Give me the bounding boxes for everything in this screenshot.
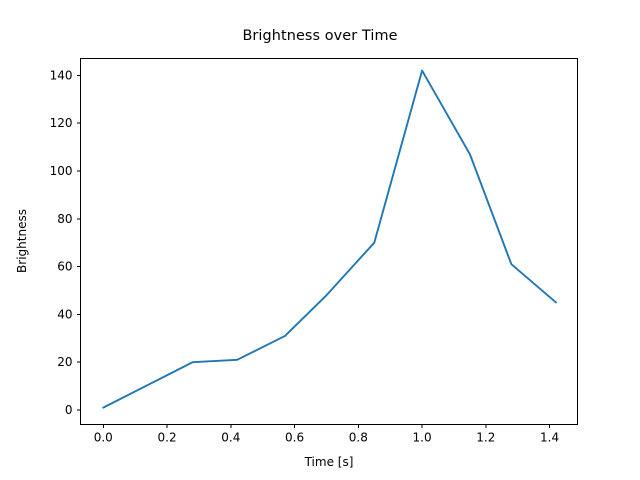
y-tick-label: 60 (57, 260, 72, 274)
x-tick-label: 0.0 (94, 431, 113, 445)
x-tick-label: 1.0 (413, 431, 432, 445)
y-tick-label: 80 (57, 212, 72, 226)
y-axis-title: Brightness (15, 209, 29, 273)
x-tick-label: 0.2 (158, 431, 177, 445)
figure-canvas: Brightness over Time 0.00.20.40.60.81.01… (0, 0, 640, 480)
y-tick-label: 120 (50, 116, 73, 130)
x-axis-ticks: 0.00.20.40.60.81.01.21.4 (94, 425, 559, 445)
x-tick-label: 0.6 (285, 431, 304, 445)
x-tick-label: 0.8 (349, 431, 368, 445)
y-tick-label: 140 (50, 68, 73, 82)
data-line-brightness (103, 71, 556, 408)
x-tick-label: 1.4 (540, 431, 559, 445)
x-tick-label: 1.2 (476, 431, 495, 445)
y-tick-label: 20 (57, 355, 72, 369)
x-tick-label: 0.4 (221, 431, 240, 445)
y-tick-label: 40 (57, 307, 72, 321)
y-tick-label: 0 (65, 403, 73, 417)
y-tick-label: 100 (50, 164, 73, 178)
x-axis-title: Time [s] (304, 455, 354, 469)
plot-area: 0.00.20.40.60.81.01.21.4 020406080100120… (0, 0, 640, 480)
y-axis-ticks: 020406080100120140 (50, 68, 81, 417)
